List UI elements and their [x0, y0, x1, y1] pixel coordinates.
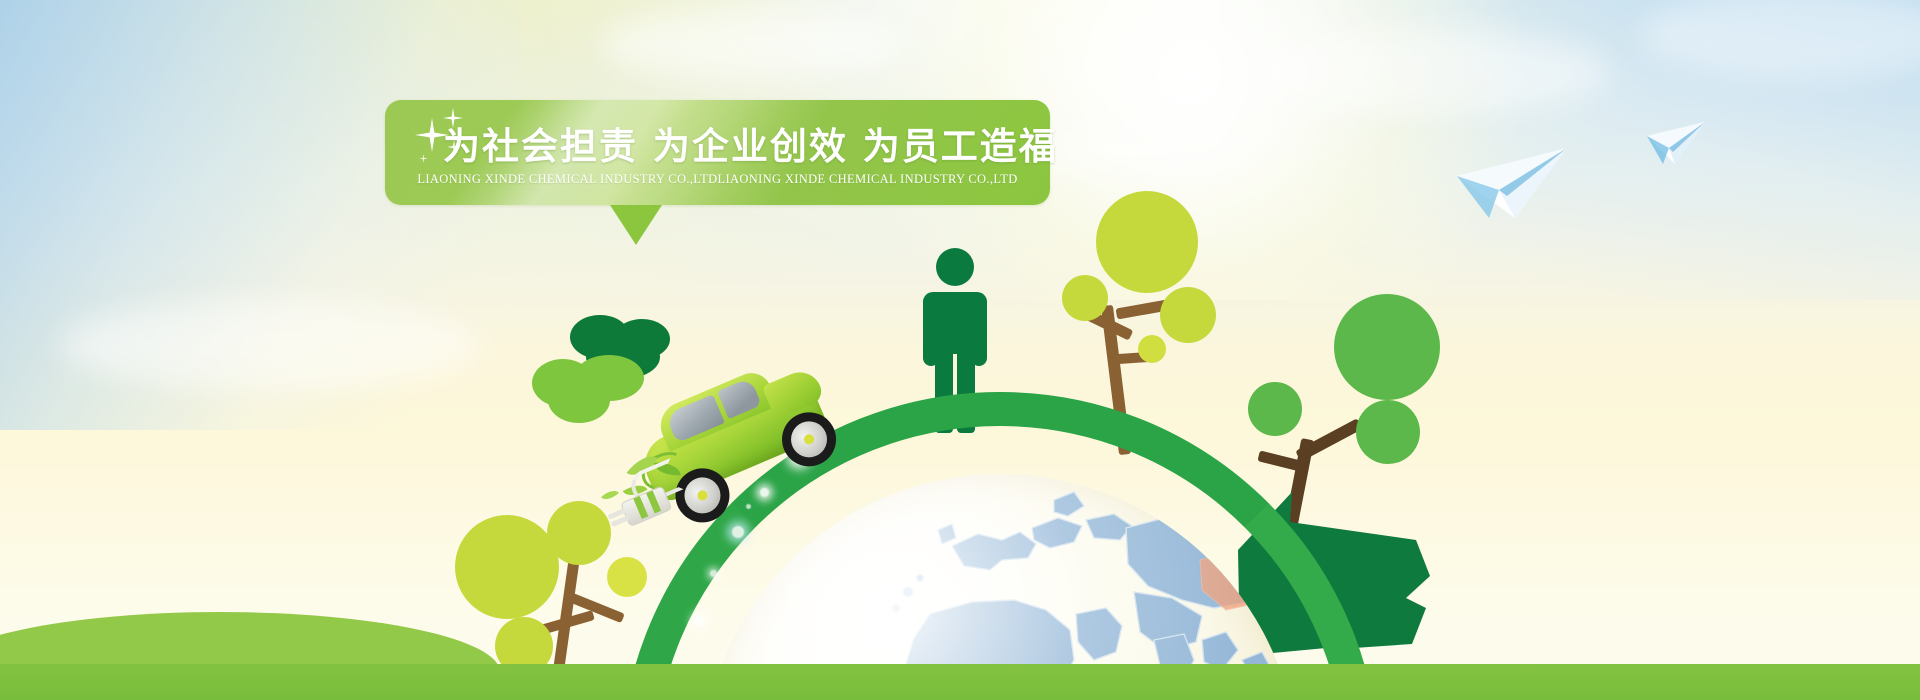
- slogan-banner: 为社会担责 为企业创效 为员工造福 LIAONING XINDE CHEMICA…: [385, 100, 1050, 205]
- sparkle-dust: [710, 570, 717, 577]
- cloud: [600, 10, 900, 80]
- paper-airplane-large-icon: [1455, 140, 1575, 220]
- banner-hero-image: 为社会担责 为企业创效 为员工造福 LIAONING XINDE CHEMICA…: [0, 0, 1920, 700]
- grass-ground-strip: [0, 664, 1920, 700]
- person-head: [936, 248, 974, 286]
- banner-headline: 为社会担责 为企业创效 为员工造福: [443, 116, 1058, 170]
- banner-subline: LIAONING XINDE CHEMICAL INDUSTRY CO.,LTD…: [385, 172, 1050, 187]
- cloud: [60, 300, 480, 390]
- cloud: [1250, 30, 1610, 114]
- sparkle-star: [419, 154, 428, 163]
- paper-airplane-small-icon: [1645, 120, 1709, 166]
- speech-bubble-tail: [610, 205, 662, 245]
- sparkle-dust: [694, 616, 704, 626]
